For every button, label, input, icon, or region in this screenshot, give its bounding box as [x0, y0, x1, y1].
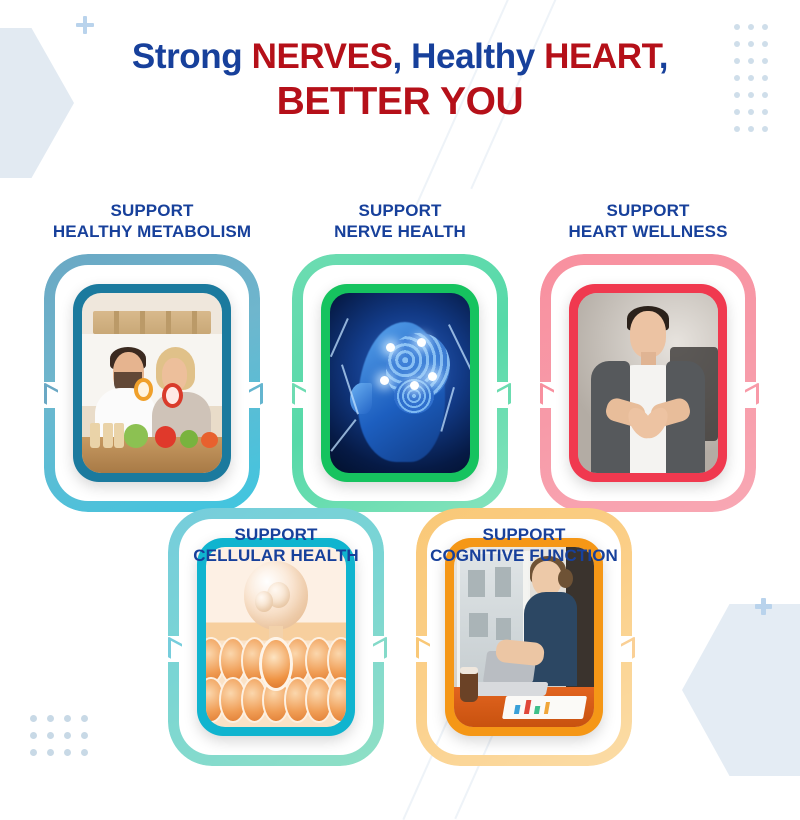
- card-label-line-1: SUPPORT: [134, 524, 418, 545]
- card-photo-healthy-metabolism: [82, 293, 222, 473]
- headline-word-heart: HEART: [544, 37, 659, 76]
- card-image-border: [569, 284, 727, 482]
- card-label-nerve-health: SUPPORT NERVE HEALTH: [258, 200, 542, 242]
- card-label-line-2: HEART WELLNESS: [506, 221, 790, 242]
- card-label-line-1: SUPPORT: [258, 200, 542, 221]
- headline-word-strong: Strong: [132, 37, 252, 76]
- frame-notch-right: [620, 636, 633, 662]
- plus-icon-top-left: [76, 16, 94, 34]
- card-photo-heart-wellness: [578, 293, 718, 473]
- card-image-border: [197, 538, 355, 736]
- benefit-card-grid: SUPPORT HEALTHY METABOLISM: [0, 196, 800, 796]
- card-label-line-2: COGNITIVE FUNCTION: [382, 545, 666, 566]
- headline-word-nerves: NERVES: [252, 37, 393, 76]
- card-label-heart-wellness: SUPPORT HEART WELLNESS: [506, 200, 790, 242]
- frame-notch-right: [496, 382, 509, 408]
- card-label-line-1: SUPPORT: [506, 200, 790, 221]
- frame-notch-right: [248, 382, 261, 408]
- card-label-cellular-health: SUPPORT CELLULAR HEALTH: [134, 524, 418, 566]
- card-label-line-2: HEALTHY METABOLISM: [10, 221, 294, 242]
- frame-notch-right: [372, 636, 385, 662]
- card-label-line-1: SUPPORT: [382, 524, 666, 545]
- headline-word-healthy: Healthy: [411, 37, 544, 76]
- card-photo-cognitive-function: [454, 547, 594, 727]
- headline-comma-1: ,: [392, 37, 411, 76]
- card-image-border: [445, 538, 603, 736]
- card-label-line-2: CELLULAR HEALTH: [134, 545, 418, 566]
- frame-notch-left: [167, 636, 180, 662]
- frame-notch-left: [291, 382, 304, 408]
- card-image-border: [321, 284, 479, 482]
- frame-notch-left: [43, 382, 56, 408]
- card-image-border: [73, 284, 231, 482]
- card-label-cognitive-function: SUPPORT COGNITIVE FUNCTION: [382, 524, 666, 566]
- header: Strong NERVES, Healthy HEART, BETTER YOU: [0, 36, 800, 126]
- frame-notch-left: [539, 382, 552, 408]
- frame-notch-right: [744, 382, 757, 408]
- card-label-healthy-metabolism: SUPPORT HEALTHY METABOLISM: [10, 200, 294, 242]
- headline-line-1: Strong NERVES, Healthy HEART,: [0, 36, 800, 78]
- card-label-line-1: SUPPORT: [10, 200, 294, 221]
- card-photo-cellular-health: [206, 547, 346, 727]
- card-label-line-2: NERVE HEALTH: [258, 221, 542, 242]
- frame-notch-left: [415, 636, 428, 662]
- headline-comma-2: ,: [659, 37, 668, 76]
- card-photo-nerve-health: [330, 293, 470, 473]
- headline-line-2: BETTER YOU: [0, 78, 800, 126]
